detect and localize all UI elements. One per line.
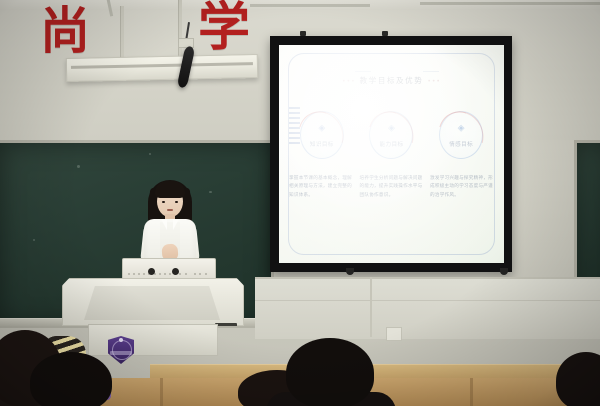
lectern[interactable] bbox=[62, 258, 242, 354]
presenter-eye bbox=[162, 201, 165, 203]
desk-seam bbox=[470, 378, 473, 406]
slide-circle-group: ◈ 知识目标 ◈ 能力目标 ◈ 情感目标 bbox=[287, 111, 496, 169]
light-support-rod bbox=[178, 0, 182, 58]
wall-panel-seam bbox=[370, 277, 372, 337]
circle-ring: ◈ 能力目标 bbox=[369, 111, 413, 159]
slide-title-deco-right: ••• bbox=[427, 78, 441, 85]
slide-paragraph-group: 掌握本节课的基本概念，理解相关原理与方法，建立完整的知识体系。 培养学生分析问题… bbox=[289, 175, 494, 200]
crest-top-dot bbox=[119, 338, 123, 342]
presenter bbox=[138, 178, 202, 270]
wall-panel-line bbox=[255, 300, 600, 301]
crest-inner-ring bbox=[112, 340, 132, 360]
ceiling-pipe bbox=[250, 4, 370, 7]
presenter-eye bbox=[175, 201, 178, 203]
lectern-button-grid[interactable] bbox=[126, 263, 210, 275]
wall-character-shang: 尚 bbox=[40, 6, 90, 56]
circle-caption: 知识目标 bbox=[301, 140, 343, 148]
diamond-icon: ◈ bbox=[388, 123, 395, 132]
slide-title-deco-left: ••• bbox=[342, 78, 356, 85]
wall-socket bbox=[386, 327, 402, 341]
classroom-scene: 尚 学 ••• 教学目标及优势 ••• bbox=[0, 0, 600, 406]
slide-paragraph: 激发学习兴趣与探究精神，形成积极主动的学习态度与严谨的治学作风。 bbox=[430, 175, 494, 200]
presenter-collar-left bbox=[161, 219, 167, 230]
school-crest-icon bbox=[108, 336, 134, 366]
ceiling-pipe bbox=[420, 2, 600, 5]
lectern-port bbox=[148, 268, 155, 275]
circle-ring: ◈ 知识目标 bbox=[300, 111, 344, 159]
presenter-hair-top bbox=[155, 181, 185, 198]
slide-circle-item: ◈ 能力目标 bbox=[362, 111, 420, 159]
slide-circle-item: ◈ 知识目标 bbox=[293, 111, 351, 159]
projection-screen[interactable]: ••• 教学目标及优势 ••• ◈ 知识目标 ◈ 能力目标 bbox=[270, 36, 512, 272]
slide-title: ••• 教学目标及优势 ••• bbox=[279, 75, 504, 86]
diamond-icon: ◈ bbox=[318, 123, 325, 132]
presenter-mouth bbox=[167, 209, 173, 211]
crest-band bbox=[110, 351, 132, 355]
slide-paragraph: 培养学生分析问题与解决问题的能力，提升实践操作水平与团队协作意识。 bbox=[360, 175, 424, 200]
lower-wall-panel bbox=[255, 277, 600, 339]
slide-circle-item: ◈ 情感目标 bbox=[432, 111, 490, 159]
ceiling-light-fixture bbox=[66, 54, 258, 82]
circle-ring: ◈ 情感目标 bbox=[439, 111, 483, 159]
light-tube bbox=[71, 62, 253, 69]
desk-seam bbox=[160, 378, 163, 406]
student-head bbox=[30, 352, 112, 406]
lectern-port bbox=[172, 268, 179, 275]
presenter-collar-right bbox=[173, 219, 179, 230]
slide-title-text: 教学目标及优势 bbox=[360, 76, 424, 85]
slide-paragraph: 掌握本节课的基本概念，理解相关原理与方法，建立完整的知识体系。 bbox=[289, 175, 353, 200]
wall-character-xue: 学 bbox=[198, 2, 250, 54]
student-head bbox=[286, 338, 374, 406]
presentation-slide: ••• 教学目标及优势 ••• ◈ 知识目标 ◈ 能力目标 bbox=[279, 45, 504, 263]
circle-separator bbox=[355, 71, 371, 72]
circle-caption: 能力目标 bbox=[370, 140, 412, 148]
lectern-label bbox=[215, 323, 237, 329]
light-support-rod bbox=[120, 6, 124, 58]
diamond-icon: ◈ bbox=[458, 123, 465, 132]
circle-caption: 情感目标 bbox=[440, 140, 482, 148]
lectern-front-face bbox=[84, 286, 220, 320]
circle-separator bbox=[423, 71, 439, 72]
